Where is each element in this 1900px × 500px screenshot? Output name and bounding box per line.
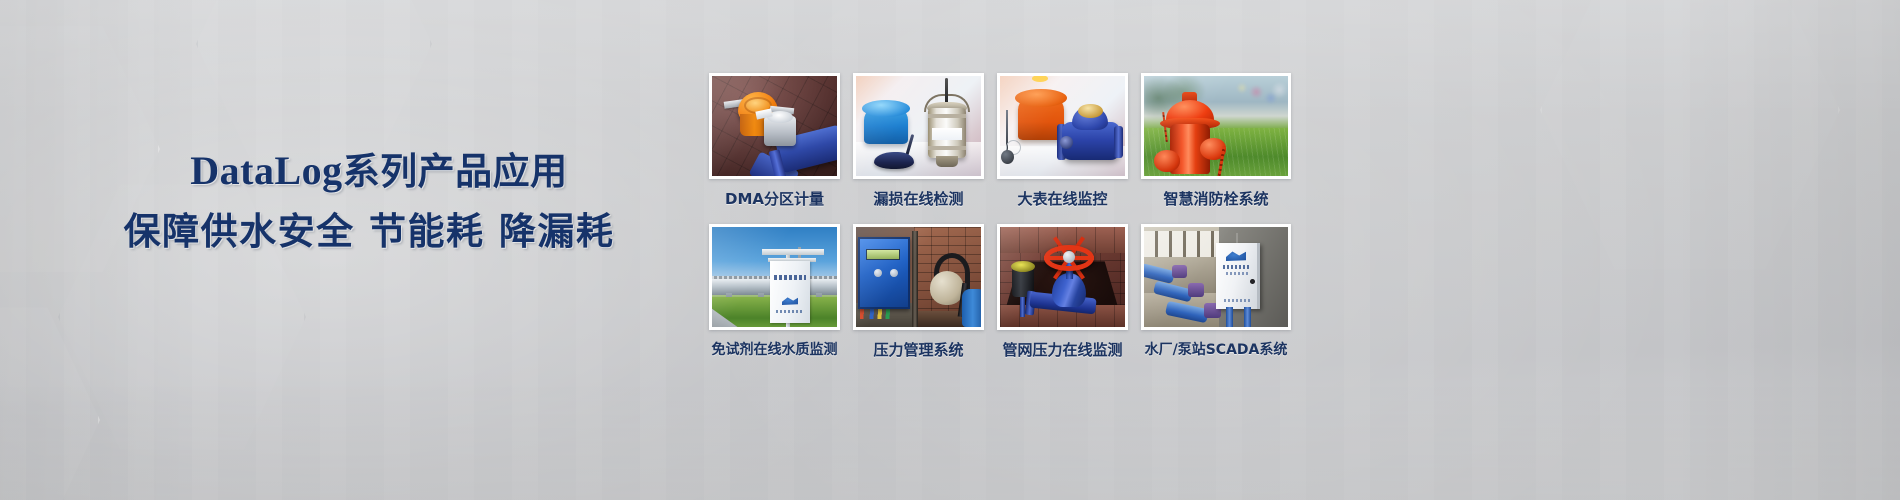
thumbnail-card[interactable] xyxy=(853,224,984,330)
application-caption: 管网压力在线监测 xyxy=(997,339,1128,360)
pressure-controller-icon xyxy=(856,227,981,327)
application-cell-network-pressure-monitoring[interactable]: 管网压力在线监测 xyxy=(997,224,1128,360)
application-cell-dma[interactable]: DMA分区计量 xyxy=(709,73,840,209)
application-caption: DMA分区计量 xyxy=(709,188,840,209)
application-caption: 漏损在线检测 xyxy=(853,188,984,209)
application-cell-bulk-meter[interactable]: 大表在线监控 xyxy=(997,73,1128,209)
thumbnail-row: DMA分区计量 漏损在线检测 xyxy=(709,73,1894,209)
pump-station-scada-icon xyxy=(1144,227,1288,327)
thumbnail-card[interactable] xyxy=(997,224,1128,330)
application-cell-reagent-free-water-quality[interactable]: 免试剂在线水质监测 xyxy=(709,224,840,360)
bulk-meter-icon xyxy=(1000,76,1125,176)
thumbnail-card[interactable] xyxy=(709,224,840,330)
application-cell-smart-hydrant[interactable]: 智慧消防栓系统 xyxy=(1141,73,1291,209)
application-cell-leak-detection[interactable]: 漏损在线检测 xyxy=(853,73,984,209)
application-cell-scada[interactable]: 水厂/泵站SCADA系统 xyxy=(1141,224,1291,360)
thumbnail-card[interactable] xyxy=(709,73,840,179)
application-caption: 大表在线监控 xyxy=(997,188,1128,209)
thumbnail-card[interactable] xyxy=(853,73,984,179)
application-caption: 免试剂在线水质监测 xyxy=(709,339,840,359)
pipe-valve-pressure-icon xyxy=(1000,227,1125,327)
application-cell-pressure-management[interactable]: 压力管理系统 xyxy=(853,224,984,360)
application-caption: 智慧消防栓系统 xyxy=(1141,188,1291,209)
headline-line-1-latin: DataLog xyxy=(190,148,342,193)
water-quality-station-icon xyxy=(712,227,837,327)
headline-line-2: 保障供水安全 节能耗 降漏耗 xyxy=(38,209,700,255)
station-sign-text xyxy=(774,275,806,280)
leak-logger-icon xyxy=(856,76,981,176)
headline-line-1-cjk: 系列产品应用 xyxy=(343,150,568,193)
thumbnail-card[interactable] xyxy=(1141,73,1291,179)
application-caption: 水厂/泵站SCADA系统 xyxy=(1141,339,1291,359)
thumbnail-row: 免试剂在线水质监测 压力管理系统 xyxy=(709,224,1894,360)
water-meter-pit-icon xyxy=(712,76,837,176)
banner-headline: DataLog系列产品应用 保障供水安全 节能耗 降漏耗 xyxy=(0,146,700,255)
product-application-banner: DataLog系列产品应用 保障供水安全 节能耗 降漏耗 DMA分区计量 xyxy=(0,0,1900,500)
headline-line-1: DataLog系列产品应用 xyxy=(58,146,700,197)
thumbnail-card[interactable] xyxy=(997,73,1128,179)
fire-hydrant-icon xyxy=(1144,76,1288,176)
application-thumbnail-grid: DMA分区计量 漏损在线检测 xyxy=(709,73,1894,360)
application-caption: 压力管理系统 xyxy=(853,339,984,360)
thumbnail-card[interactable] xyxy=(1141,224,1291,330)
